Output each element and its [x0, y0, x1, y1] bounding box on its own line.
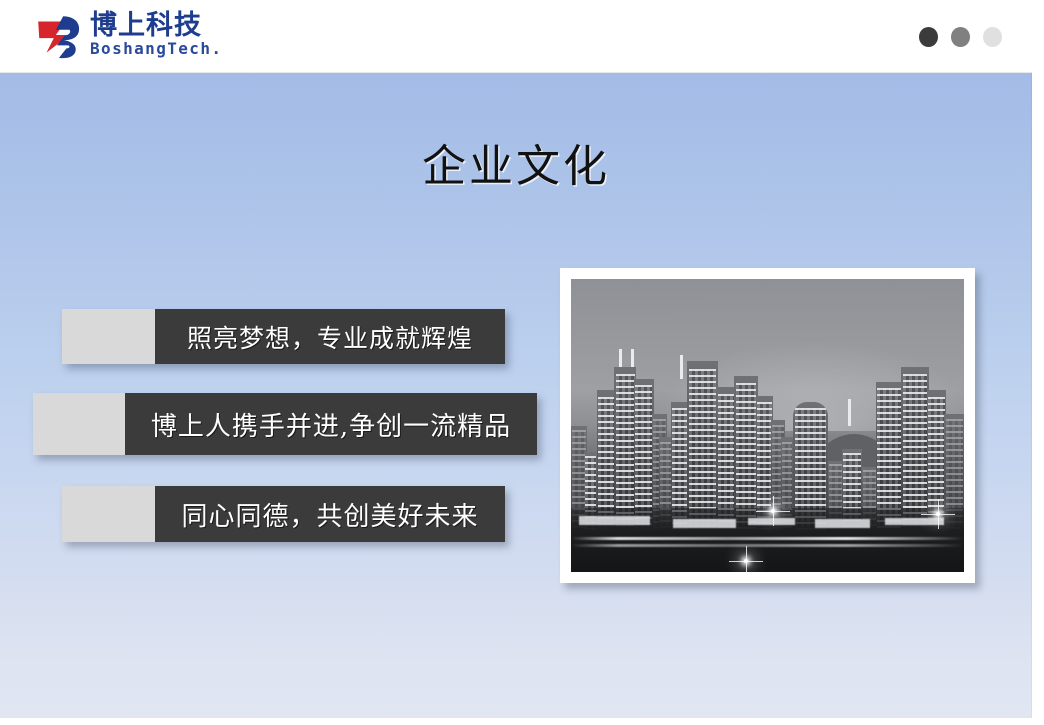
slide-header: 博上科技 BoshangTech.	[0, 0, 1032, 73]
city-skyline-night-photo	[571, 279, 964, 572]
storefront-lights	[579, 516, 650, 525]
header-dot-dark[interactable]	[919, 27, 938, 47]
page-title: 企业文化	[0, 130, 1032, 194]
logo-english-name: BoshangTech.	[90, 40, 222, 58]
storefront-lights	[885, 518, 944, 525]
antenna-spire	[631, 349, 634, 367]
slogan-text-1: 照亮梦想，专业成就辉煌	[155, 309, 505, 364]
slide-body: 企业文化 照亮梦想，专业成就辉煌 博上人携手并进,争创一流精品 同心同德，共创美…	[0, 73, 1032, 718]
storefront-lights	[815, 519, 870, 528]
slogan-text-3: 同心同德，共创美好未来	[155, 486, 505, 542]
presentation-slide: 博上科技 BoshangTech. 企业文化 照亮梦想，专业成就辉煌 博上人携手…	[0, 0, 1044, 725]
slogan-accent-block-2	[33, 393, 125, 455]
logo-chinese-name: 博上科技	[90, 12, 222, 40]
antenna-spire	[619, 349, 622, 367]
antenna-spire	[848, 399, 851, 425]
slogan-accent-block-3	[62, 486, 155, 542]
header-dot-light[interactable]	[983, 27, 1002, 47]
boshang-logo-mark	[33, 9, 85, 61]
header-dot-group	[919, 27, 1002, 47]
slogan-accent-block-1	[62, 309, 155, 364]
company-logo[interactable]: 博上科技 BoshangTech.	[33, 9, 222, 61]
logo-text-block: 博上科技 BoshangTech.	[90, 12, 222, 59]
antenna-spire	[680, 355, 683, 378]
header-dot-medium[interactable]	[951, 27, 970, 47]
traffic-light-streak	[571, 544, 964, 547]
storefront-lights	[748, 518, 795, 525]
slogan-bar-2: 博上人携手并进,争创一流精品	[33, 393, 537, 455]
slogan-bar-3: 同心同德，共创美好未来	[62, 486, 505, 542]
traffic-light-streak	[571, 537, 964, 540]
slogan-text-2: 博上人携手并进,争创一流精品	[125, 393, 537, 455]
slogan-bar-1: 照亮梦想，专业成就辉煌	[62, 309, 505, 364]
storefront-lights	[673, 519, 736, 528]
photo-frame	[560, 268, 975, 583]
